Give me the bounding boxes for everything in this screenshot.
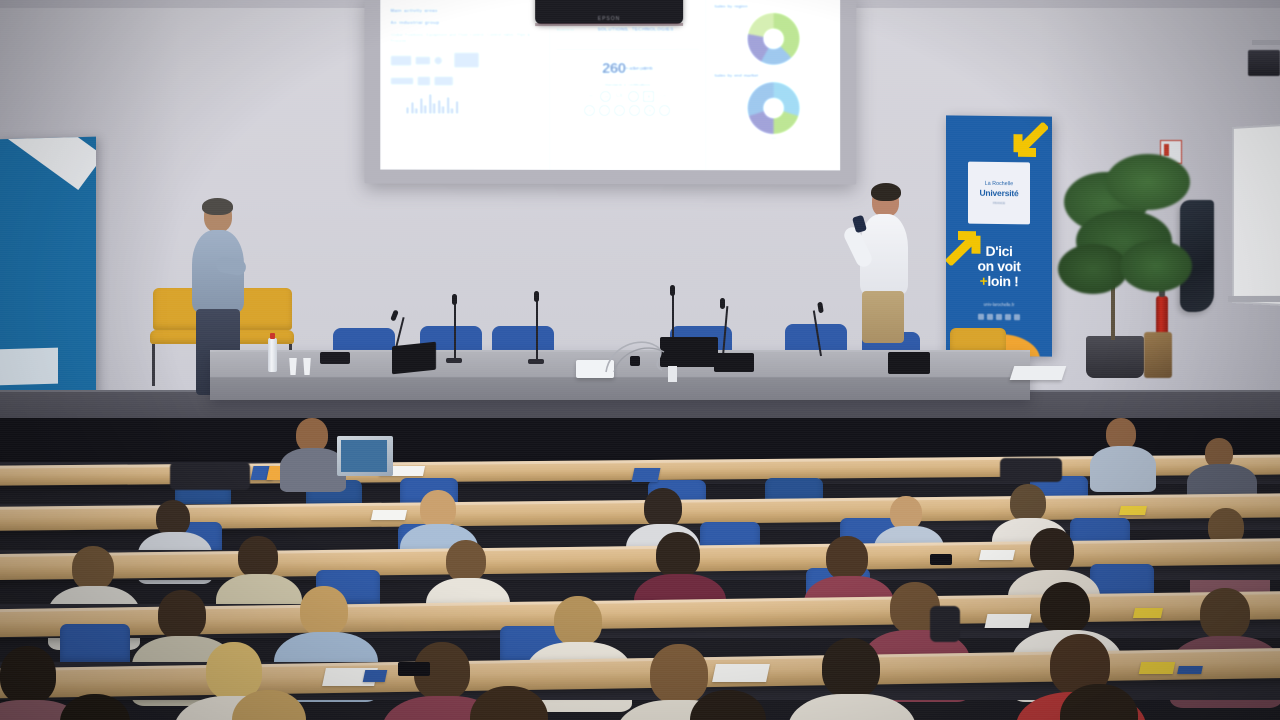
- roll-up-banner-right: La Rochelle Université FRANCE D'ici on v…: [946, 115, 1052, 356]
- slide-stat-number: 260+ active patents: [556, 60, 698, 77]
- cert-badge-icon: ∅: [628, 91, 639, 102]
- logo-mark: [454, 52, 480, 68]
- slide-partner-logos-2: [390, 76, 541, 86]
- gooseneck-microphone: [536, 300, 538, 361]
- handout: [1119, 506, 1147, 515]
- cert-badge-icon: TÜV: [658, 91, 667, 100]
- desk-device: [320, 352, 350, 364]
- cert-badge-icon: ⊙: [659, 105, 670, 116]
- audience-head: [554, 596, 602, 646]
- handout: [632, 468, 661, 482]
- microphone-head: [720, 298, 725, 309]
- handout: [1177, 666, 1203, 674]
- slide-bar-chart: [390, 92, 541, 114]
- audience-head: [0, 646, 56, 704]
- audience-body: [1090, 446, 1156, 492]
- handout: [1133, 608, 1163, 618]
- slide-left-subheading: An industrial group: [390, 20, 541, 27]
- potted-plant: [1058, 148, 1210, 378]
- slide-column-left: Main activity areas An industrial group …: [380, 0, 549, 170]
- laptop-screen: [341, 440, 387, 472]
- handout: [1139, 662, 1176, 674]
- audience-head: [1010, 484, 1046, 522]
- banner-left-stripe: [0, 137, 96, 190]
- ce-mark-icon: CE: [615, 91, 624, 100]
- cert-badge-icon: ⊕: [644, 105, 655, 116]
- projector-brand-label: EPSON: [598, 16, 621, 22]
- cert-badge-icon: Ψ: [584, 105, 595, 116]
- microphone-base: [446, 358, 462, 363]
- slide-chart2-title: Sales by end market: [714, 73, 834, 78]
- microphone-head: [534, 291, 539, 302]
- logo-mark: [390, 77, 414, 85]
- university-logo: La Rochelle Université FRANCE: [968, 162, 1030, 225]
- youtube-icon: [1014, 314, 1020, 320]
- presenter-trousers: [862, 291, 904, 343]
- slide-center-label-2: Business: [556, 27, 593, 34]
- paper-stack: [1010, 366, 1067, 380]
- slide-partner-logos: [390, 52, 541, 68]
- slogan-line-3: loin !: [987, 273, 1018, 289]
- floor-bag: [1144, 332, 1172, 378]
- donut-chart-market: [748, 82, 800, 134]
- slide-stat-unit: + active patents: [626, 66, 653, 72]
- slide-column-right: Sales by region Sales by end market ••••…: [706, 0, 840, 170]
- slide-stat-value: 260: [602, 60, 626, 77]
- logo-line-2: Université: [979, 188, 1018, 198]
- banner-left-panel: [0, 348, 58, 386]
- logo-mark: [434, 76, 454, 86]
- audience-head: [300, 586, 348, 636]
- audience-head: [890, 496, 922, 530]
- audience-head: [1030, 528, 1074, 574]
- plant-pot: [1086, 336, 1144, 378]
- ceiling-projector: [1248, 50, 1280, 76]
- slide-chart1-title: Sales by region: [714, 4, 834, 9]
- projector-mount: [1252, 40, 1280, 45]
- microphone-head: [452, 294, 457, 305]
- presenter-hair: [871, 183, 901, 201]
- cert-badge-icon: A: [614, 105, 625, 116]
- projector-device: EPSON: [535, 0, 683, 24]
- facebook-icon: [978, 314, 984, 320]
- audience-head: [156, 500, 190, 536]
- whiteboard-tray: [1228, 296, 1280, 302]
- smartphone: [930, 554, 952, 565]
- banner-url: univ-larochelle.fr: [946, 301, 1052, 307]
- microphone-base: [528, 359, 544, 364]
- audience-head: [420, 490, 456, 528]
- slide-cert-caption: Standards & Certifications: [556, 82, 698, 87]
- conference-unit: [888, 352, 930, 374]
- laptop-bag: [1000, 458, 1062, 482]
- whiteboard: [1232, 122, 1280, 307]
- handout: [985, 614, 1032, 628]
- banner-social-icons: [946, 313, 1052, 320]
- cert-badge-icon: Ⅲ: [643, 91, 654, 102]
- handout: [712, 664, 770, 682]
- slide-left-body: Global Positions, Equipment and Fluid Co…: [390, 32, 541, 44]
- handout: [979, 550, 1015, 560]
- audience-head: [826, 536, 868, 580]
- audience-head: [72, 546, 114, 590]
- audience-head: [296, 418, 328, 452]
- banner-slogan: D'ici on voit +loin !: [946, 243, 1052, 289]
- cert-badge-icon: ◊: [629, 105, 640, 116]
- slide-cert-row-2: Ψ ≈ A ◊ ⊕ ⊙: [556, 105, 698, 116]
- logo-mark: [434, 56, 443, 65]
- logo-mark: [415, 56, 431, 65]
- audience-head: [238, 536, 278, 578]
- audience-head: [644, 488, 682, 528]
- audience-head: [1200, 588, 1250, 640]
- logo-line-3: FRANCE: [993, 201, 1005, 205]
- chair-leg: [152, 344, 155, 386]
- microphone-head: [670, 285, 675, 296]
- audience-head: [650, 644, 708, 704]
- logo-line-1: La Rochelle: [985, 181, 1014, 187]
- audience-head: [1040, 582, 1090, 634]
- handbag: [930, 606, 960, 642]
- laptop-base: [714, 353, 754, 372]
- conference-unit: [392, 342, 436, 375]
- water-bottle: [268, 338, 277, 372]
- auditorium-seat: [60, 624, 130, 664]
- backpack: [170, 462, 250, 490]
- slide-left-heading: Main activity areas: [390, 8, 541, 15]
- donut-chart-region: [748, 13, 800, 65]
- cable-bundle: [600, 330, 690, 374]
- roll-up-banner-left: [0, 137, 96, 408]
- cert-badge-icon: QS: [600, 91, 611, 102]
- twitter-icon: [987, 314, 993, 320]
- auditorium-seating: [0, 418, 1280, 720]
- smartphone: [398, 662, 430, 676]
- linkedin-icon: [1005, 314, 1011, 320]
- arrow-down-left-icon: [1004, 122, 1048, 167]
- lecture-hall-scene: Main activity areas An industrial group …: [0, 0, 1280, 720]
- projection-screen: Main activity areas An industrial group …: [364, 0, 856, 185]
- audience-head: [822, 638, 880, 698]
- slide-center-value-2: SOLUTIONS, TECHNOLOGIES: [597, 27, 697, 34]
- logo-mark: [417, 76, 431, 86]
- instagram-icon: [996, 314, 1002, 320]
- cert-badge-icon: ≈: [599, 105, 610, 116]
- audience-head: [446, 540, 486, 582]
- gooseneck-microphone: [454, 303, 456, 361]
- logo-mark: [390, 55, 412, 66]
- cert-badge-icon: ISO: [587, 91, 596, 100]
- slogan-line-3-wrap: +loin !: [946, 273, 1052, 289]
- audience-head: [656, 532, 700, 578]
- moderator-hair: [202, 198, 233, 215]
- handout: [363, 670, 388, 682]
- presenter: [852, 186, 914, 346]
- audience-head: [158, 590, 206, 640]
- slide-cert-row-1: ISO QS CE ∅ Ⅲ TÜV: [556, 91, 698, 102]
- slide-chart2-caption: •••••: [714, 136, 834, 140]
- handout: [371, 510, 407, 520]
